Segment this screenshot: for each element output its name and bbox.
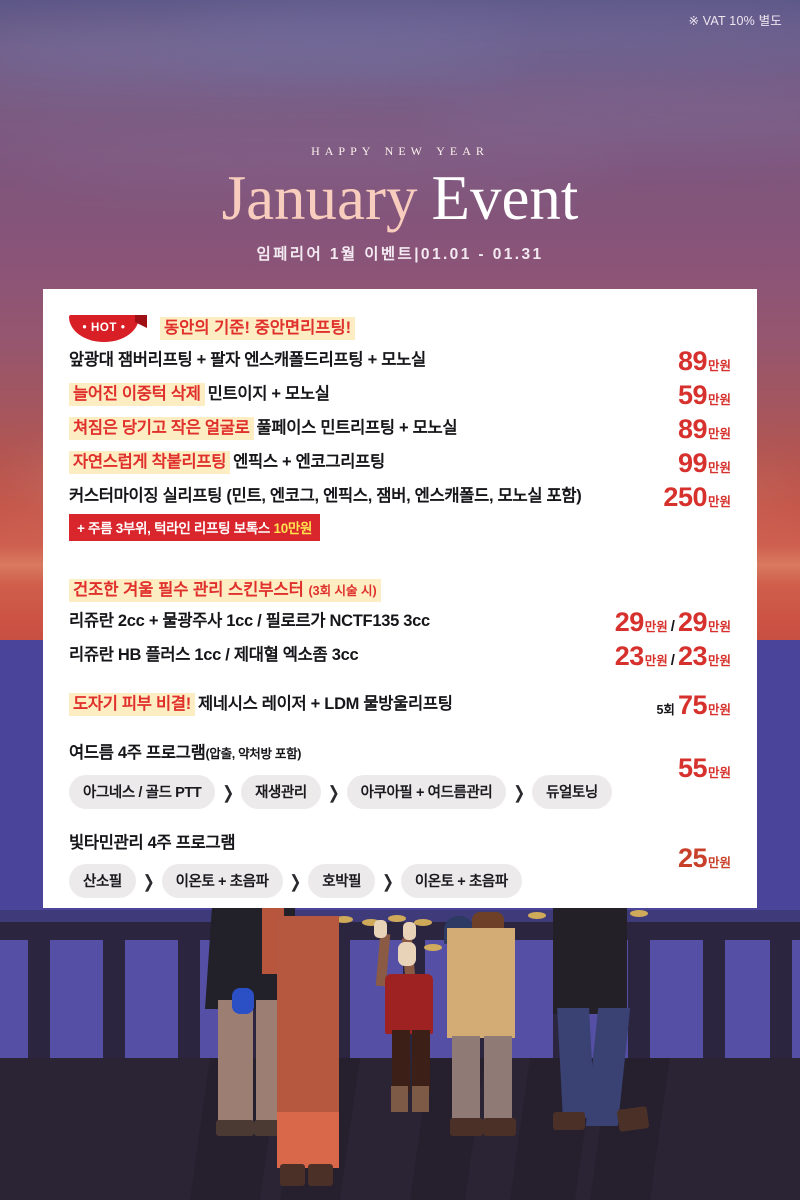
offer-body: 민트이지 + 모노실 <box>208 385 330 403</box>
offer-price: 99만원 <box>678 450 731 477</box>
offer-price: 89만원 <box>678 348 731 375</box>
price-unit: 만원 <box>708 393 731 407</box>
hot-badge-label: • HOT • <box>69 315 139 340</box>
step-chip[interactable]: 산소필 <box>69 864 136 898</box>
chevron-right-icon: ❯ <box>513 783 525 801</box>
price-unit: 만원 <box>708 766 731 780</box>
offer-text: 여드름 4주 프로그램(압출, 약처방 포함) 아그네스 / 골드 PTT ❯ … <box>69 741 668 809</box>
string-light-icon <box>528 912 546 919</box>
string-light-icon <box>630 910 648 917</box>
string-light-icon <box>424 944 442 951</box>
offer-price: 25만원 <box>678 845 731 872</box>
step-chip[interactable]: 호박필 <box>308 864 375 898</box>
price-number: 89 <box>678 414 707 444</box>
section-heading-row: • HOT • 동안의 기준! 중안면리프팅! <box>69 315 731 342</box>
railing-post <box>770 940 792 1060</box>
price-number: 55 <box>678 753 707 783</box>
offer-row: 커스터마이징 실리프팅 (민트, 엔코그, 엔픽스, 잼버, 엔스캐폴드, 모노… <box>69 484 731 541</box>
offer-text: 자연스럽게 착붙리프팅엔픽스 + 엔코그리프팅 <box>69 450 668 476</box>
offer-price: 23만원/23만원 <box>615 643 731 670</box>
offer-text: 리쥬란 HB 플러스 1cc / 제대혈 엑소좀 3cc <box>69 643 605 669</box>
offer-text: 늘어진 이중턱 삭제민트이지 + 모노실 <box>69 382 668 408</box>
offer-row: 쳐짐은 당기고 작은 얼굴로풀페이스 민트리프팅 + 모노실 89만원 <box>69 416 731 443</box>
eyebrow-text: HAPPY NEW YEAR <box>0 140 800 160</box>
title-block: HAPPY NEW YEAR JanuaryEvent 임페리어 1월 이벤트|… <box>0 140 800 264</box>
section-heading: 동안의 기준! 중안면리프팅! <box>160 316 355 341</box>
bonus-banner-price: 10만원 <box>274 521 313 536</box>
offer-row: 앞광대 잼버리프팅 + 팔자 엔스캐폴드리프팅 + 모노실 89만원 <box>69 348 731 375</box>
section-heading-text: 건조한 겨울 필수 관리 스킨부스터 (3회 시술 시) <box>69 579 381 602</box>
program-step-chips: 산소필 ❯ 이온토 + 초음파 ❯ 호박필 ❯ 이온토 + 초음파 <box>69 864 668 898</box>
railing-post <box>703 940 725 1060</box>
section-heading-row: 건조한 겨울 필수 관리 스킨부스터 (3회 시술 시) <box>69 578 731 603</box>
price-number-2: 29 <box>678 607 707 637</box>
price-number: 23 <box>615 641 644 671</box>
offer-text: 도자기 피부 비결!제네시스 레이저 + LDM 물방울리프팅 <box>69 692 646 718</box>
offer-price: 89만원 <box>678 416 731 443</box>
railing-post <box>103 940 125 1060</box>
step-chip[interactable]: 이온토 + 초음파 <box>162 864 283 898</box>
offer-lead: 쳐짐은 당기고 작은 얼굴로 <box>69 417 254 440</box>
bag-icon <box>232 988 254 1014</box>
section-lifting: • HOT • 동안의 기준! 중안면리프팅! 앞광대 잼버리프팅 + 팔자 엔… <box>69 315 731 541</box>
section-heading-text: 동안의 기준! 중안면리프팅! <box>160 317 355 340</box>
price-number: 75 <box>678 690 707 720</box>
offer-price: 29만원/29만원 <box>615 609 731 636</box>
offer-note: (압출, 약처방 포함) <box>206 747 302 761</box>
program-title-line: 여드름 4주 프로그램(압출, 약처방 포함) <box>69 741 668 767</box>
price-unit: 만원 <box>708 856 731 870</box>
step-chip[interactable]: 아그네스 / 골드 PTT <box>69 775 215 809</box>
price-number: 25 <box>678 843 707 873</box>
offer-body: 여드름 4주 프로그램 <box>69 744 206 762</box>
section-skinbooster: 건조한 겨울 필수 관리 스킨부스터 (3회 시술 시) 리쥬란 2cc + 물… <box>69 578 731 671</box>
section-heading-note: (3회 시술 시) <box>308 584 376 598</box>
railing-post <box>628 940 650 1060</box>
price-unit-2: 만원 <box>708 620 731 634</box>
chevron-right-icon: ❯ <box>328 783 340 801</box>
poster-root: ※ VAT 10% 별도 HAPPY NEW YEAR JanuaryEvent… <box>0 0 800 1200</box>
hot-badge: • HOT • <box>69 315 147 342</box>
price-number: 59 <box>678 380 707 410</box>
chevron-right-icon: ❯ <box>382 873 394 891</box>
page-subtitle: 임페리어 1월 이벤트|01.01 - 01.31 <box>0 242 800 264</box>
offer-text: 쳐짐은 당기고 작은 얼굴로풀페이스 민트리프팅 + 모노실 <box>69 416 668 442</box>
string-light-icon <box>414 919 432 926</box>
string-light-icon <box>388 915 406 922</box>
offer-price: 55만원 <box>678 755 731 782</box>
title-event: Event <box>431 163 578 233</box>
offer-row: 빛타민관리 4주 프로그램 산소필 ❯ 이온토 + 초음파 ❯ 호박필 ❯ 이온… <box>69 831 731 899</box>
offer-row: 리쥬란 2cc + 물광주사 1cc / 필로르가 NCTF135 3cc 29… <box>69 609 731 636</box>
price-number: 29 <box>615 607 644 637</box>
section-programs: 여드름 4주 프로그램(압출, 약처방 포함) 아그네스 / 골드 PTT ❯ … <box>69 741 731 898</box>
spacer <box>69 809 731 831</box>
step-chip[interactable]: 아쿠아필 + 여드름관리 <box>347 775 507 809</box>
price-unit-2: 만원 <box>708 654 731 668</box>
chevron-right-icon: ❯ <box>143 873 155 891</box>
lifting-rows: 앞광대 잼버리프팅 + 팔자 엔스캐폴드리프팅 + 모노실 89만원 늘어진 이… <box>69 348 731 541</box>
chevron-right-icon: ❯ <box>290 873 302 891</box>
price-number: 99 <box>678 448 707 478</box>
offer-body: 제네시스 레이저 + LDM 물방울리프팅 <box>198 695 453 713</box>
offer-row: 자연스럽게 착붙리프팅엔픽스 + 엔코그리프팅 99만원 <box>69 450 731 477</box>
step-chip[interactable]: 듀얼토닝 <box>532 775 612 809</box>
spacer <box>69 719 731 741</box>
price-prefix: 5회 <box>656 703 674 717</box>
price-number-2: 23 <box>678 641 707 671</box>
cloud-band-icon <box>420 95 800 141</box>
price-unit: 만원 <box>645 654 668 668</box>
price-unit: 만원 <box>708 427 731 441</box>
offer-price: 59만원 <box>678 382 731 409</box>
offer-row: 도자기 피부 비결!제네시스 레이저 + LDM 물방울리프팅 5회75만원 <box>69 692 731 719</box>
chevron-right-icon: ❯ <box>222 783 234 801</box>
price-unit: 만원 <box>708 703 731 717</box>
bonus-banner-text: + 주름 3부위, 턱라인 리프팅 보톡스 <box>77 521 270 536</box>
railing-post <box>28 940 50 1060</box>
step-chip[interactable]: 이온토 + 초음파 <box>401 864 522 898</box>
offer-body: 커스터마이징 실리프팅 (민트, 엔코그, 엔픽스, 잼버, 엔스캐폴드, 모노… <box>69 484 653 510</box>
offer-row: 늘어진 이중턱 삭제민트이지 + 모노실 59만원 <box>69 382 731 409</box>
railing-top-bar <box>0 922 800 940</box>
spacer <box>69 670 731 692</box>
price-unit: 만원 <box>708 495 731 509</box>
offer-text: 빛타민관리 4주 프로그램 산소필 ❯ 이온토 + 초음파 ❯ 호박필 ❯ 이온… <box>69 831 668 899</box>
spacer <box>69 548 731 578</box>
offer-text: 리쥬란 2cc + 물광주사 1cc / 필로르가 NCTF135 3cc <box>69 609 605 635</box>
offer-lead: 자연스럽게 착붙리프팅 <box>69 451 230 474</box>
offer-body: 빛타민관리 4주 프로그램 <box>69 831 668 857</box>
price-number: 89 <box>678 346 707 376</box>
section-genesis: 도자기 피부 비결!제네시스 레이저 + LDM 물방울리프팅 5회75만원 <box>69 692 731 719</box>
offer-body: 엔픽스 + 엔코그리프팅 <box>233 453 385 471</box>
offer-card: • HOT • 동안의 기준! 중안면리프팅! 앞광대 잼버리프팅 + 팔자 엔… <box>43 289 757 908</box>
price-unit: 만원 <box>708 461 731 475</box>
offer-text: 앞광대 잼버리프팅 + 팔자 엔스캐폴드리프팅 + 모노실 <box>69 348 668 374</box>
price-separator: / <box>671 618 675 635</box>
offer-row: 여드름 4주 프로그램(압출, 약처방 포함) 아그네스 / 골드 PTT ❯ … <box>69 741 731 809</box>
offer-body: 풀페이스 민트리프팅 + 모노실 <box>257 419 458 437</box>
price-separator: / <box>671 652 675 669</box>
promenade-illustration <box>0 890 800 1200</box>
price-number: 250 <box>663 482 707 512</box>
price-unit: 만원 <box>708 359 731 373</box>
step-chip[interactable]: 재생관리 <box>241 775 321 809</box>
title-january: January <box>222 163 418 233</box>
program-step-chips: 아그네스 / 골드 PTT ❯ 재생관리 ❯ 아쿠아필 + 여드름관리 ❯ 듀얼… <box>69 775 668 809</box>
offer-price: 250만원 <box>663 484 731 511</box>
railing-post <box>178 940 200 1060</box>
offer-lead: 늘어진 이중턱 삭제 <box>69 383 205 406</box>
page-title: JanuaryEvent <box>0 166 800 232</box>
offer-row: 리쥬란 HB 플러스 1cc / 제대혈 엑소좀 3cc 23만원/23만원 <box>69 643 731 670</box>
offer-lead: 도자기 피부 비결! <box>69 693 195 716</box>
offer-text: 커스터마이징 실리프팅 (민트, 엔코그, 엔픽스, 잼버, 엔스캐폴드, 모노… <box>69 484 653 541</box>
vat-notice: ※ VAT 10% 별도 <box>688 10 782 29</box>
offer-price: 5회75만원 <box>656 692 731 719</box>
price-unit: 만원 <box>645 620 668 634</box>
bonus-banner: + 주름 3부위, 턱라인 리프팅 보톡스 10만원 <box>69 514 320 541</box>
